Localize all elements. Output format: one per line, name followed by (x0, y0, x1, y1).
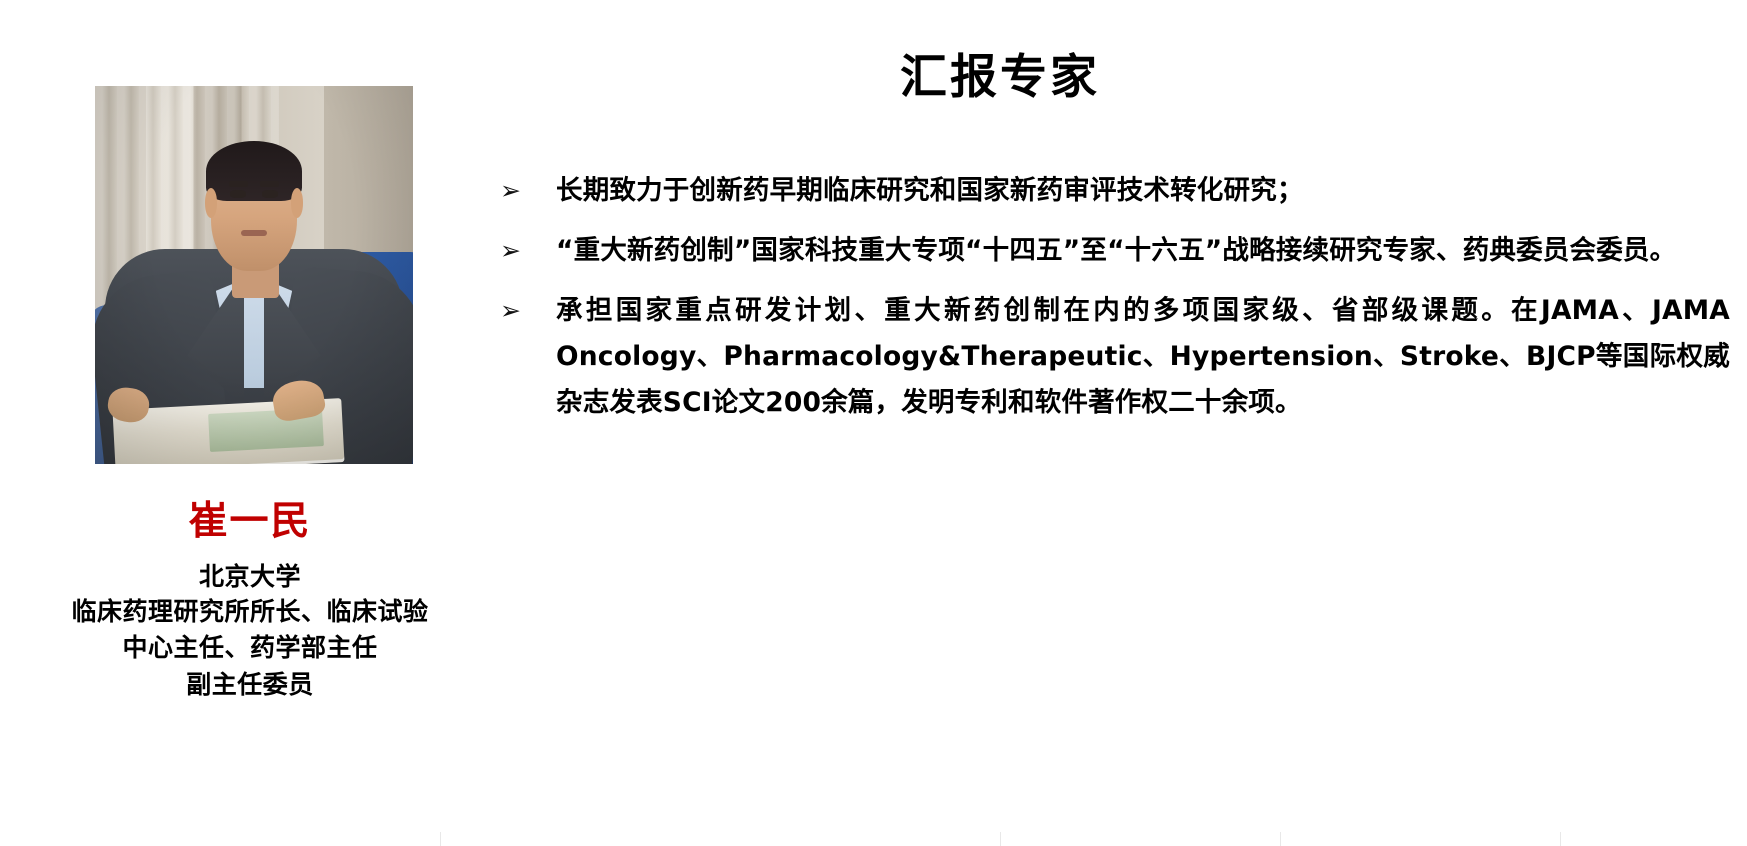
arrow-bullet-icon: ➢ (500, 168, 556, 214)
speaker-affiliation-line-3: 中心主任、药学部主任 (0, 630, 500, 666)
page-title: 汇报专家 (470, 50, 1530, 106)
arrow-bullet-icon: ➢ (500, 228, 556, 274)
bullet-text-major-projects: “重大新药创制”国家科技重大专项“十四五”至“十六五”战略接续研究专家、药典委员… (556, 228, 1730, 274)
bullet-text-research-focus: 长期致力于创新药早期临床研究和国家新药审评技术转化研究； (556, 168, 1730, 214)
edge-tick (1560, 832, 1561, 846)
speaker-profile-column: 崔一民 北京大学 临床药理研究所所长、临床试验 中心主任、药学部主任 副主任委员 (0, 0, 500, 846)
speaker-affiliation-line-4: 副主任委员 (0, 667, 500, 703)
edge-tick (1000, 832, 1001, 846)
portrait-vignette (95, 86, 413, 464)
bullet-text-publications: 承担国家重点研发计划、重大新药创制在内的多项国家级、省部级课题。在JAMA、JA… (556, 288, 1730, 426)
edge-tick (440, 832, 441, 846)
arrow-bullet-icon: ➢ (500, 288, 556, 334)
bio-bullet-list: ➢ 长期致力于创新药早期临床研究和国家新药审评技术转化研究； ➢ “重大新药创制… (500, 168, 1730, 440)
speaker-affiliation-line-2: 临床药理研究所所长、临床试验 (0, 594, 500, 630)
speaker-name: 崔一民 (0, 500, 500, 545)
speaker-name-block: 崔一民 北京大学 临床药理研究所所长、临床试验 中心主任、药学部主任 副主任委员 (0, 500, 500, 703)
speaker-affiliation-line-1: 北京大学 (0, 559, 500, 595)
speaker-bio-column: 汇报专家 ➢ 长期致力于创新药早期临床研究和国家新药审评技术转化研究； ➢ “重… (470, 0, 1747, 846)
slide-canvas: 崔一民 北京大学 临床药理研究所所长、临床试验 中心主任、药学部主任 副主任委员… (0, 0, 1747, 846)
edge-tick (1280, 832, 1281, 846)
list-item: ➢ 承担国家重点研发计划、重大新药创制在内的多项国家级、省部级课题。在JAMA、… (500, 288, 1730, 426)
list-item: ➢ 长期致力于创新药早期临床研究和国家新药审评技术转化研究； (500, 168, 1730, 214)
speaker-portrait-photo (95, 86, 413, 464)
list-item: ➢ “重大新药创制”国家科技重大专项“十四五”至“十六五”战略接续研究专家、药典… (500, 228, 1730, 274)
